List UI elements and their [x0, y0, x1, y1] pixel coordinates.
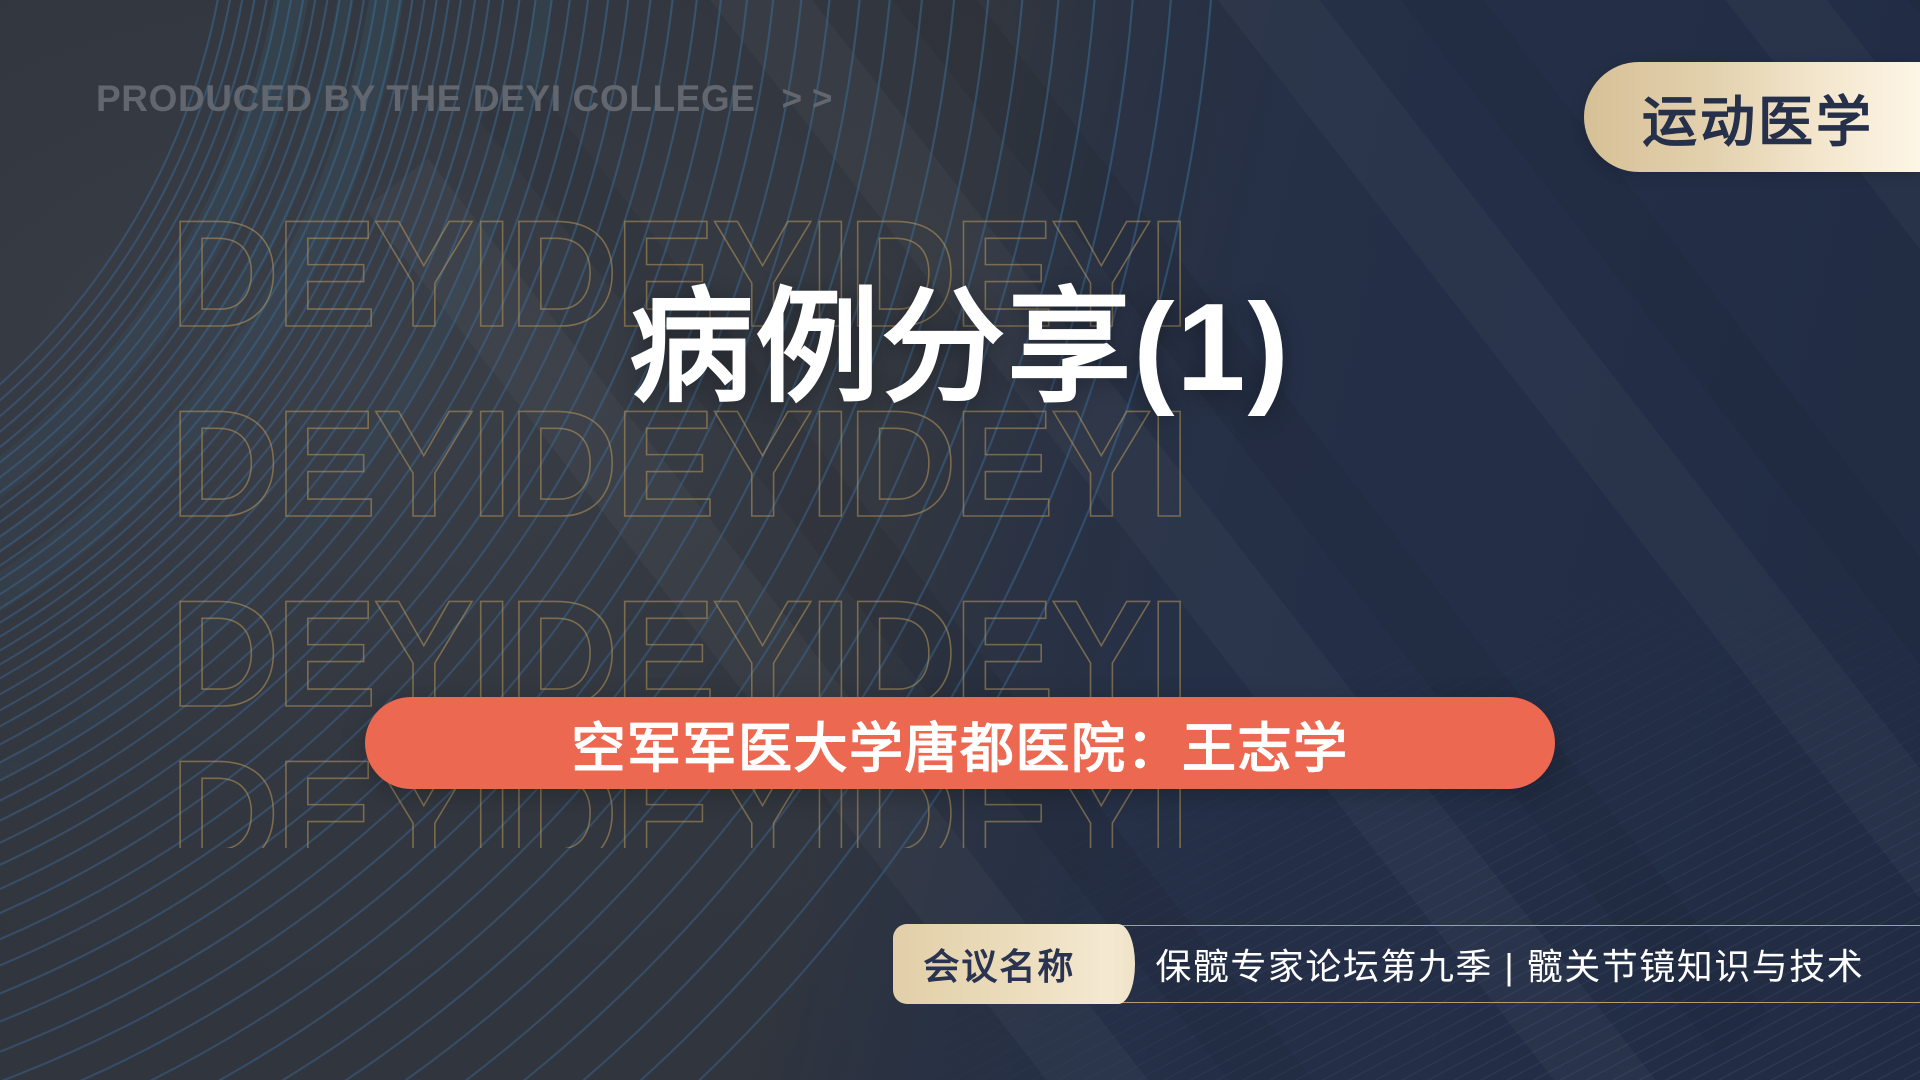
conference-name-tag: 会议名称	[893, 924, 1109, 1003]
producer-kicker: PRODUCED BY THE DEYI COLLEGE > >	[96, 78, 836, 120]
speaker-badge: 空军军医大学唐都医院：王志学	[365, 697, 1555, 789]
presentation-title-slide: DEYIDEYIDEYI DEYIDEYIDEYI DEYIDEYIDEYI D…	[0, 0, 1920, 1080]
conference-title-label: 保髋专家论坛第九季 | 髋关节镜知识与技术	[1155, 938, 1864, 990]
category-badge-label: 运动医学	[1642, 77, 1874, 157]
page-title: 病例分享(1)	[0, 277, 1920, 421]
chevron-right-icon: >	[782, 79, 805, 119]
conference-name-bar: 会议名称 保髋专家论坛第九季 | 髋关节镜知识与技术	[894, 925, 1920, 1003]
conference-title: 保髋专家论坛第九季 | 髋关节镜知识与技术	[1109, 926, 1920, 1002]
chevron-right-icon-group: > >	[782, 79, 836, 119]
category-badge: 运动医学	[1584, 62, 1920, 172]
producer-kicker-label: PRODUCED BY THE DEYI COLLEGE	[96, 78, 756, 120]
chevron-right-icon: >	[812, 79, 835, 119]
conference-name-tag-label: 会议名称	[923, 938, 1075, 990]
speaker-badge-label: 空军军医大学唐都医院：王志学	[572, 704, 1349, 783]
